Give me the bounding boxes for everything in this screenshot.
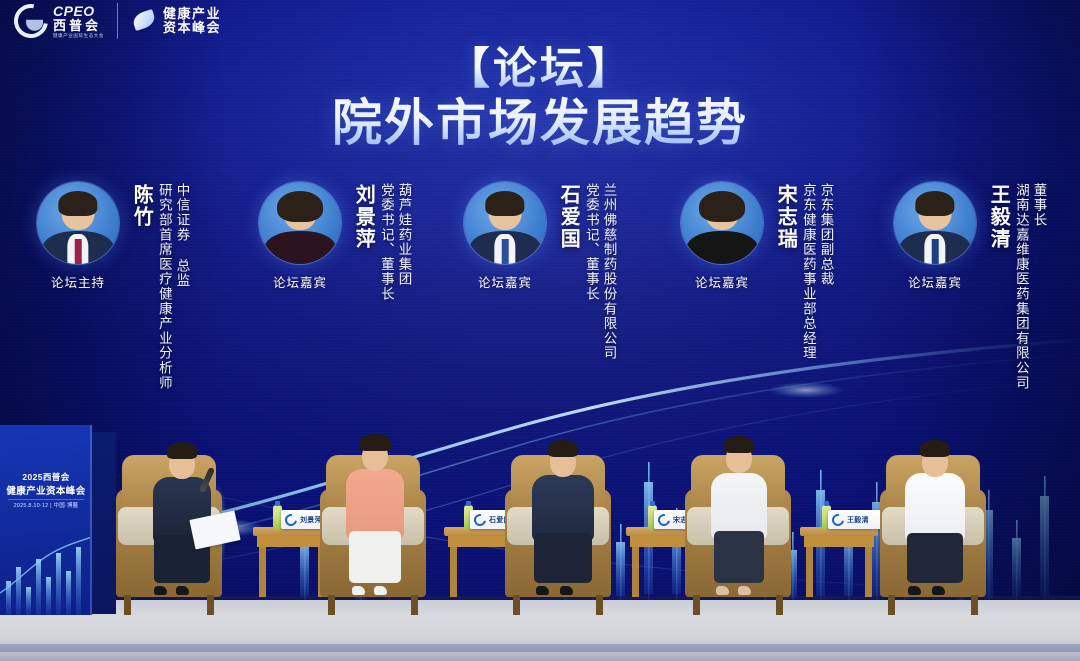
panelist-title-line-1-1: 党委书记、董事长	[378, 183, 394, 301]
panelist-avatar-3	[681, 182, 763, 264]
logo-divider	[117, 3, 118, 39]
podium-line3: 2025.8.10-12 | 中国·博鳌	[0, 501, 92, 509]
panelist-card-0: 论坛主持 陈竹 中信证券 总监 研究部首席医疗健康产业分析师	[28, 182, 190, 390]
person-legs-1	[349, 531, 401, 583]
person-legs-3	[714, 531, 764, 583]
panelist-title-line-2-0: 兰州佛慈制药股份有限公司	[601, 183, 617, 361]
stage-seating-and-panel: 刘景萍 石爱国	[0, 410, 1080, 615]
cpeo-logo-subtitle: 健康产业国际生态大会	[53, 34, 104, 39]
podium-rule	[8, 499, 84, 500]
seated-person-4	[902, 445, 968, 597]
seated-person-2	[530, 445, 596, 597]
event-podium-banner: 2025西普会 健康产业资本峰会 2025.8.10-12 | 中国·博鳌	[0, 425, 92, 615]
person-hair-3	[724, 436, 754, 453]
panelist-name-2: 石爱国	[557, 184, 578, 250]
podium-side-panel	[92, 432, 116, 614]
person-torso-2	[532, 475, 594, 541]
cpeo-logo-cn: 西普会	[53, 19, 104, 32]
person-hair-0	[167, 442, 197, 459]
forum-title-line1: 【论坛】	[0, 46, 1080, 93]
person-shoe-3-r	[738, 586, 751, 595]
cpeo-logo: CPEO 西普会 健康产业国际生态大会	[14, 4, 104, 39]
panelist-role-0: 论坛主持	[51, 272, 105, 291]
panelist-role-1: 论坛嘉宾	[273, 272, 327, 291]
panelist-title-line-1-0: 葫芦娃药业集团	[396, 183, 412, 301]
side-table-3: 王毅清	[800, 527, 878, 597]
person-shoe-0-r	[176, 586, 189, 595]
panelist-credits-row: 论坛主持 陈竹 中信证券 总监 研究部首席医疗健康产业分析师 论坛嘉宾 刘景萍 …	[0, 182, 1080, 412]
person-shoe-1-l	[352, 586, 365, 595]
person-shoe-4-l	[908, 586, 921, 595]
placard-name-0: 刘景萍	[300, 515, 322, 525]
person-shoe-1-r	[374, 586, 387, 595]
placard-logo-icon	[830, 511, 847, 528]
panelist-role-2: 论坛嘉宾	[478, 272, 532, 291]
panelist-title-line-0-0: 中信证券 总监	[174, 183, 190, 390]
panelist-name-1: 刘景萍	[352, 184, 373, 250]
person-hair-2	[548, 440, 578, 457]
cpeo-logo-en: CPEO	[53, 4, 104, 18]
person-hair-1	[359, 434, 391, 451]
person-legs-2	[534, 533, 592, 583]
person-shoe-2-r	[560, 586, 573, 595]
panelist-title-line-2-1: 党委书记、董事长	[583, 183, 599, 361]
panelist-role-3: 论坛嘉宾	[695, 272, 749, 291]
placard-logo-icon	[472, 511, 489, 528]
panelist-role-4: 论坛嘉宾	[908, 272, 962, 291]
forum-title-block: 【论坛】 院外市场发展趋势	[0, 46, 1080, 151]
podium-chart-graphic	[0, 523, 92, 615]
person-shoe-0-l	[154, 586, 167, 595]
panelist-name-4: 王毅清	[987, 184, 1008, 250]
placard-name-3: 王毅清	[847, 515, 869, 525]
cpeo-ring-icon	[7, 0, 54, 45]
summit-logo-line2: 资本峰会	[163, 21, 221, 35]
forum-title-line2: 院外市场发展趋势	[0, 95, 1080, 151]
event-logo-bar: CPEO 西普会 健康产业国际生态大会 健康产业 资本峰会	[14, 3, 221, 39]
placard-logo-icon	[656, 511, 673, 528]
person-torso-3	[711, 473, 767, 539]
panelist-titles-4: 董事长 湖南达嘉维康医药集团有限公司	[1011, 183, 1046, 390]
panelist-avatar-4	[894, 182, 976, 264]
panelist-title-line-0-1: 研究部首席医疗健康产业分析师	[156, 183, 172, 390]
seated-person-3	[708, 441, 770, 597]
panelist-titles-1: 葫芦娃药业集团 党委书记、董事长	[376, 183, 411, 301]
podium-line1: 2025西普会	[0, 471, 92, 483]
panelist-avatar-0	[37, 182, 119, 264]
panelist-card-3: 论坛嘉宾 宋志瑞 京东集团副总裁 京东健康医药事业部总经理	[672, 182, 834, 361]
panelist-title-line-3-1: 京东健康医药事业部总经理	[800, 183, 816, 361]
seated-person-1	[344, 437, 406, 597]
panelist-title-line-3-0: 京东集团副总裁	[818, 183, 834, 361]
presentation-stage-scene: CPEO 西普会 健康产业国际生态大会 健康产业 资本峰会 【论坛】 院外市场发…	[0, 0, 1080, 661]
person-legs-4	[907, 533, 963, 583]
panelist-card-2: 论坛嘉宾 石爱国 兰州佛慈制药股份有限公司 党委书记、董事长	[455, 182, 617, 361]
panelist-title-line-4-1: 湖南达嘉维康医药集团有限公司	[1013, 183, 1029, 390]
person-torso-1	[346, 469, 404, 539]
person-shoe-4-r	[932, 586, 945, 595]
panelist-avatar-2	[464, 182, 546, 264]
person-shoe-3-l	[716, 586, 729, 595]
person-hair-4	[920, 440, 950, 457]
panelist-titles-0: 中信证券 总监 研究部首席医疗健康产业分析师	[154, 183, 189, 390]
panelist-name-3: 宋志瑞	[774, 184, 795, 250]
panelist-titles-3: 京东集团副总裁 京东健康医药事业部总经理	[798, 183, 833, 361]
placard-logo-icon	[283, 511, 300, 528]
panelist-avatar-1	[259, 182, 341, 264]
person-shoe-2-l	[536, 586, 549, 595]
health-capital-summit-logo: 健康产业 资本峰会	[131, 7, 221, 35]
panelist-card-1: 论坛嘉宾 刘景萍 葫芦娃药业集团 党委书记、董事长	[250, 182, 412, 301]
podium-line2: 健康产业资本峰会	[0, 483, 92, 497]
panelist-card-4: 论坛嘉宾 王毅清 董事长 湖南达嘉维康医药集团有限公司	[885, 182, 1047, 390]
seated-person-0	[150, 447, 214, 597]
person-torso-4	[905, 473, 965, 541]
panelist-name-0: 陈竹	[130, 184, 151, 228]
panelist-titles-2: 兰州佛慈制药股份有限公司 党委书记、董事长	[581, 183, 616, 361]
summit-logo-line1: 健康产业	[163, 7, 221, 21]
leaf-icon	[131, 8, 157, 34]
panelist-title-line-4-0: 董事长	[1031, 183, 1047, 390]
